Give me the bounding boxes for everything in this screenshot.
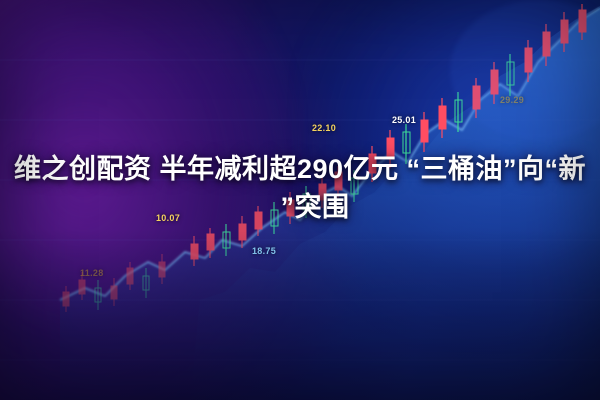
price-label-29-29: 29.29 <box>500 95 524 105</box>
headline-line-2: ”突围 <box>6 188 594 226</box>
headline-line-1: 维之创配资 半年减利超290亿元 “三桶油”向“新 <box>6 150 594 188</box>
price-label-22-10: 22.10 <box>312 123 336 133</box>
news-banner-image: 11.28 10.07 18.75 22.10 25.01 29.29 维之创配… <box>0 0 600 400</box>
bottom-shade-overlay <box>0 230 600 400</box>
headline-text: 维之创配资 半年减利超290亿元 “三桶油”向“新 ”突围 <box>0 150 600 227</box>
price-label-25-01: 25.01 <box>392 115 416 125</box>
